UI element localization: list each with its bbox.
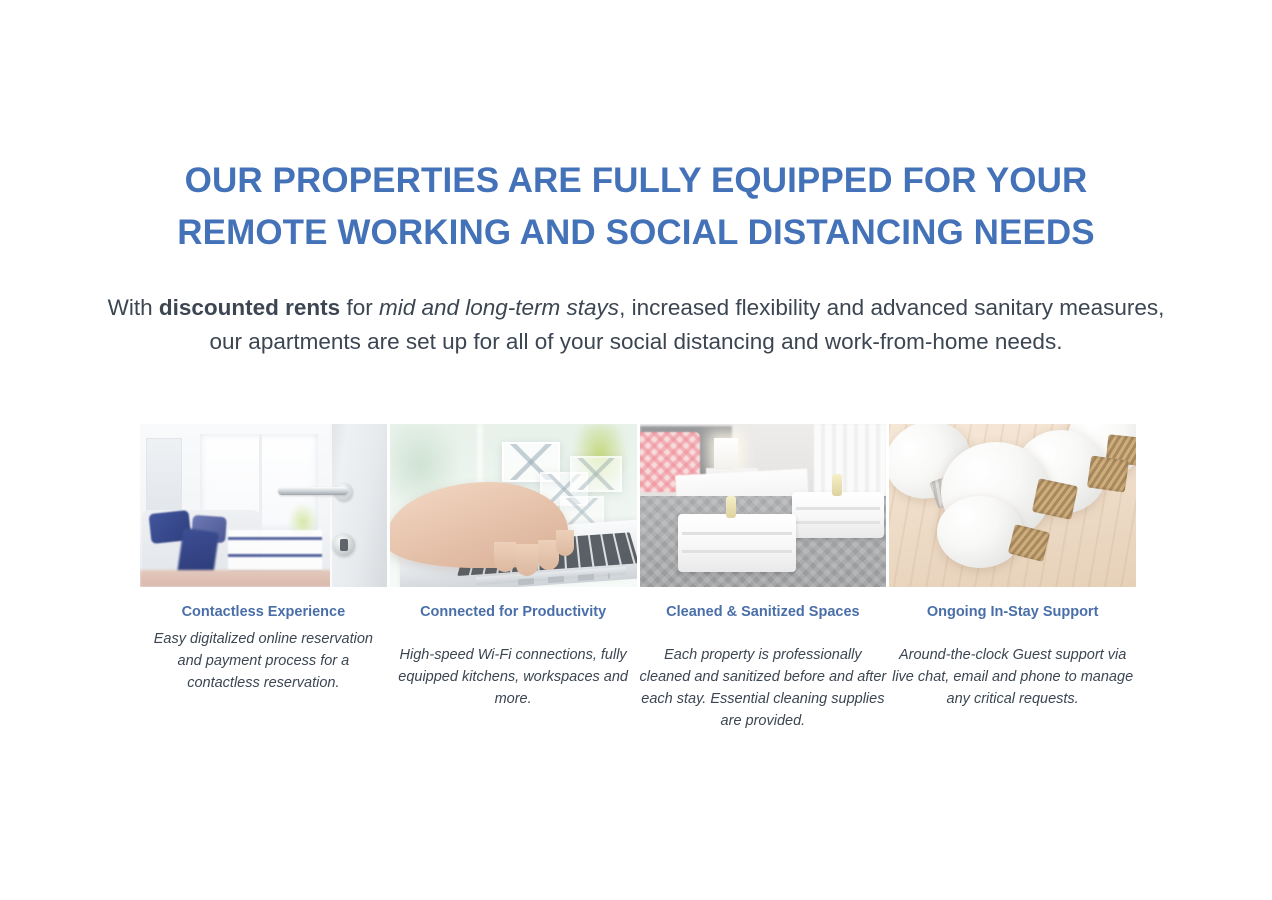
feature-caption-row: Contactless Experience Easy digitalized … [140, 602, 1136, 732]
striped-bench [228, 530, 322, 572]
feature-image-contactless-door [140, 424, 387, 587]
feature-column-contactless-experience: Contactless Experience Easy digitalized … [140, 602, 387, 732]
envelope-icon [570, 456, 622, 492]
feature-image-towels-on-bed [640, 424, 887, 587]
subtitle-text-1: With [108, 295, 159, 320]
door-lever-handle [278, 487, 348, 495]
amenity-bottle [726, 496, 736, 518]
wall-panel [146, 438, 182, 512]
bedside-lamp [714, 438, 738, 468]
feature-column-connected-for-productivity: Connected for Productivity High-speed Wi… [390, 602, 637, 732]
door-lock-icon [333, 534, 355, 556]
finger [516, 544, 538, 576]
feature-image-row [140, 424, 1136, 587]
bulb-screw-base [1087, 456, 1129, 493]
wood-floor [140, 570, 336, 587]
feature-title: Ongoing In-Stay Support [889, 602, 1136, 622]
feature-image-laptop-typing [390, 424, 637, 587]
slide-canvas: OUR PROPERTIES ARE FULLY EQUIPPED FOR YO… [0, 0, 1272, 900]
page-title-line-1: OUR PROPERTIES ARE FULLY EQUIPPED FOR YO… [136, 155, 1136, 207]
door-panel [330, 424, 387, 587]
page-title: OUR PROPERTIES ARE FULLY EQUIPPED FOR YO… [136, 155, 1136, 259]
feature-description: Each property is professionally cleaned … [640, 644, 887, 732]
feature-column-ongoing-in-stay-support: Ongoing In-Stay Support Around-the-clock… [889, 602, 1136, 732]
feature-column-cleaned-sanitized-spaces: Cleaned & Sanitized Spaces Each property… [640, 602, 887, 732]
subtitle-bold-discounted-rents: discounted rents [159, 295, 340, 320]
amenity-bottle [832, 474, 842, 496]
feature-image-light-bulbs [889, 424, 1136, 587]
folded-towel-stack-back [792, 492, 884, 538]
subtitle-paragraph: With discounted rents for mid and long-t… [106, 291, 1166, 359]
feature-description: Around-the-clock Guest support via live … [889, 644, 1136, 710]
feature-title: Cleaned & Sanitized Spaces [640, 602, 887, 622]
subtitle-text-2: for [340, 295, 379, 320]
page-title-line-2: REMOTE WORKING AND SOCIAL DISTANCING NEE… [136, 207, 1136, 259]
folded-towel-stack-front [678, 514, 796, 572]
light-bulb [937, 496, 1023, 568]
feature-description: High-speed Wi-Fi connections, fully equi… [390, 644, 637, 710]
feature-title: Connected for Productivity [390, 602, 637, 622]
feature-description: Easy digitalized online reservation and … [140, 628, 387, 694]
finger [494, 542, 516, 572]
feature-title: Contactless Experience [140, 602, 387, 622]
finger [556, 530, 574, 556]
subtitle-italic-mid-long-term-stays: mid and long-term stays [379, 295, 619, 320]
